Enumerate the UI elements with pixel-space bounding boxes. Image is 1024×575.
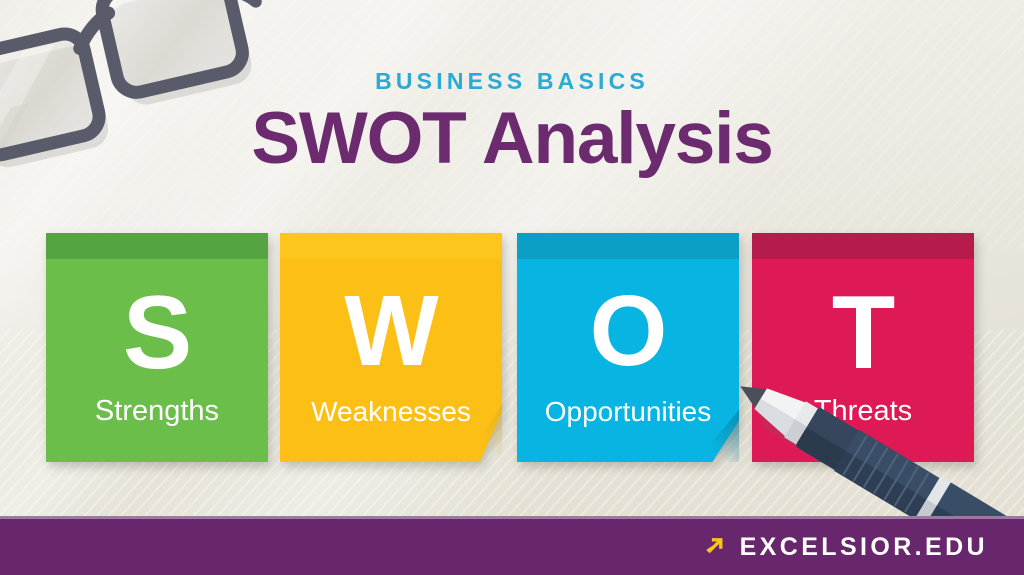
brand-text: EXCELSIOR.EDU: [740, 535, 988, 560]
pen-icon: [735, 378, 1024, 538]
note-letter: T: [752, 281, 974, 385]
note-label: Weaknesses: [280, 398, 502, 426]
sticky-note-strengths[interactable]: S Strengths: [46, 233, 268, 462]
note-label: Opportunities: [517, 398, 739, 426]
arrow-up-right-icon: [703, 535, 727, 559]
note-letter: W: [280, 281, 502, 381]
sticky-note-weaknesses[interactable]: W Weaknesses: [280, 233, 502, 462]
swot-infographic: BUSINESS BASICS SWOT Analysis S Strength…: [0, 0, 1024, 575]
brand-lockup[interactable]: EXCELSIOR.EDU: [703, 519, 988, 575]
note-top-strip: [752, 233, 974, 259]
note-top-strip: [280, 233, 502, 259]
sticky-note-opportunities[interactable]: O Opportunities: [517, 233, 739, 462]
note-top-strip: [517, 233, 739, 259]
note-letter: S: [46, 281, 268, 385]
footer-bar: EXCELSIOR.EDU: [0, 519, 1024, 575]
page-title: SWOT Analysis: [0, 101, 1024, 178]
eyebrow-text: BUSINESS BASICS: [0, 70, 1024, 93]
note-letter: O: [517, 281, 739, 381]
note-label: Strengths: [46, 397, 268, 426]
note-top-strip: [46, 233, 268, 259]
